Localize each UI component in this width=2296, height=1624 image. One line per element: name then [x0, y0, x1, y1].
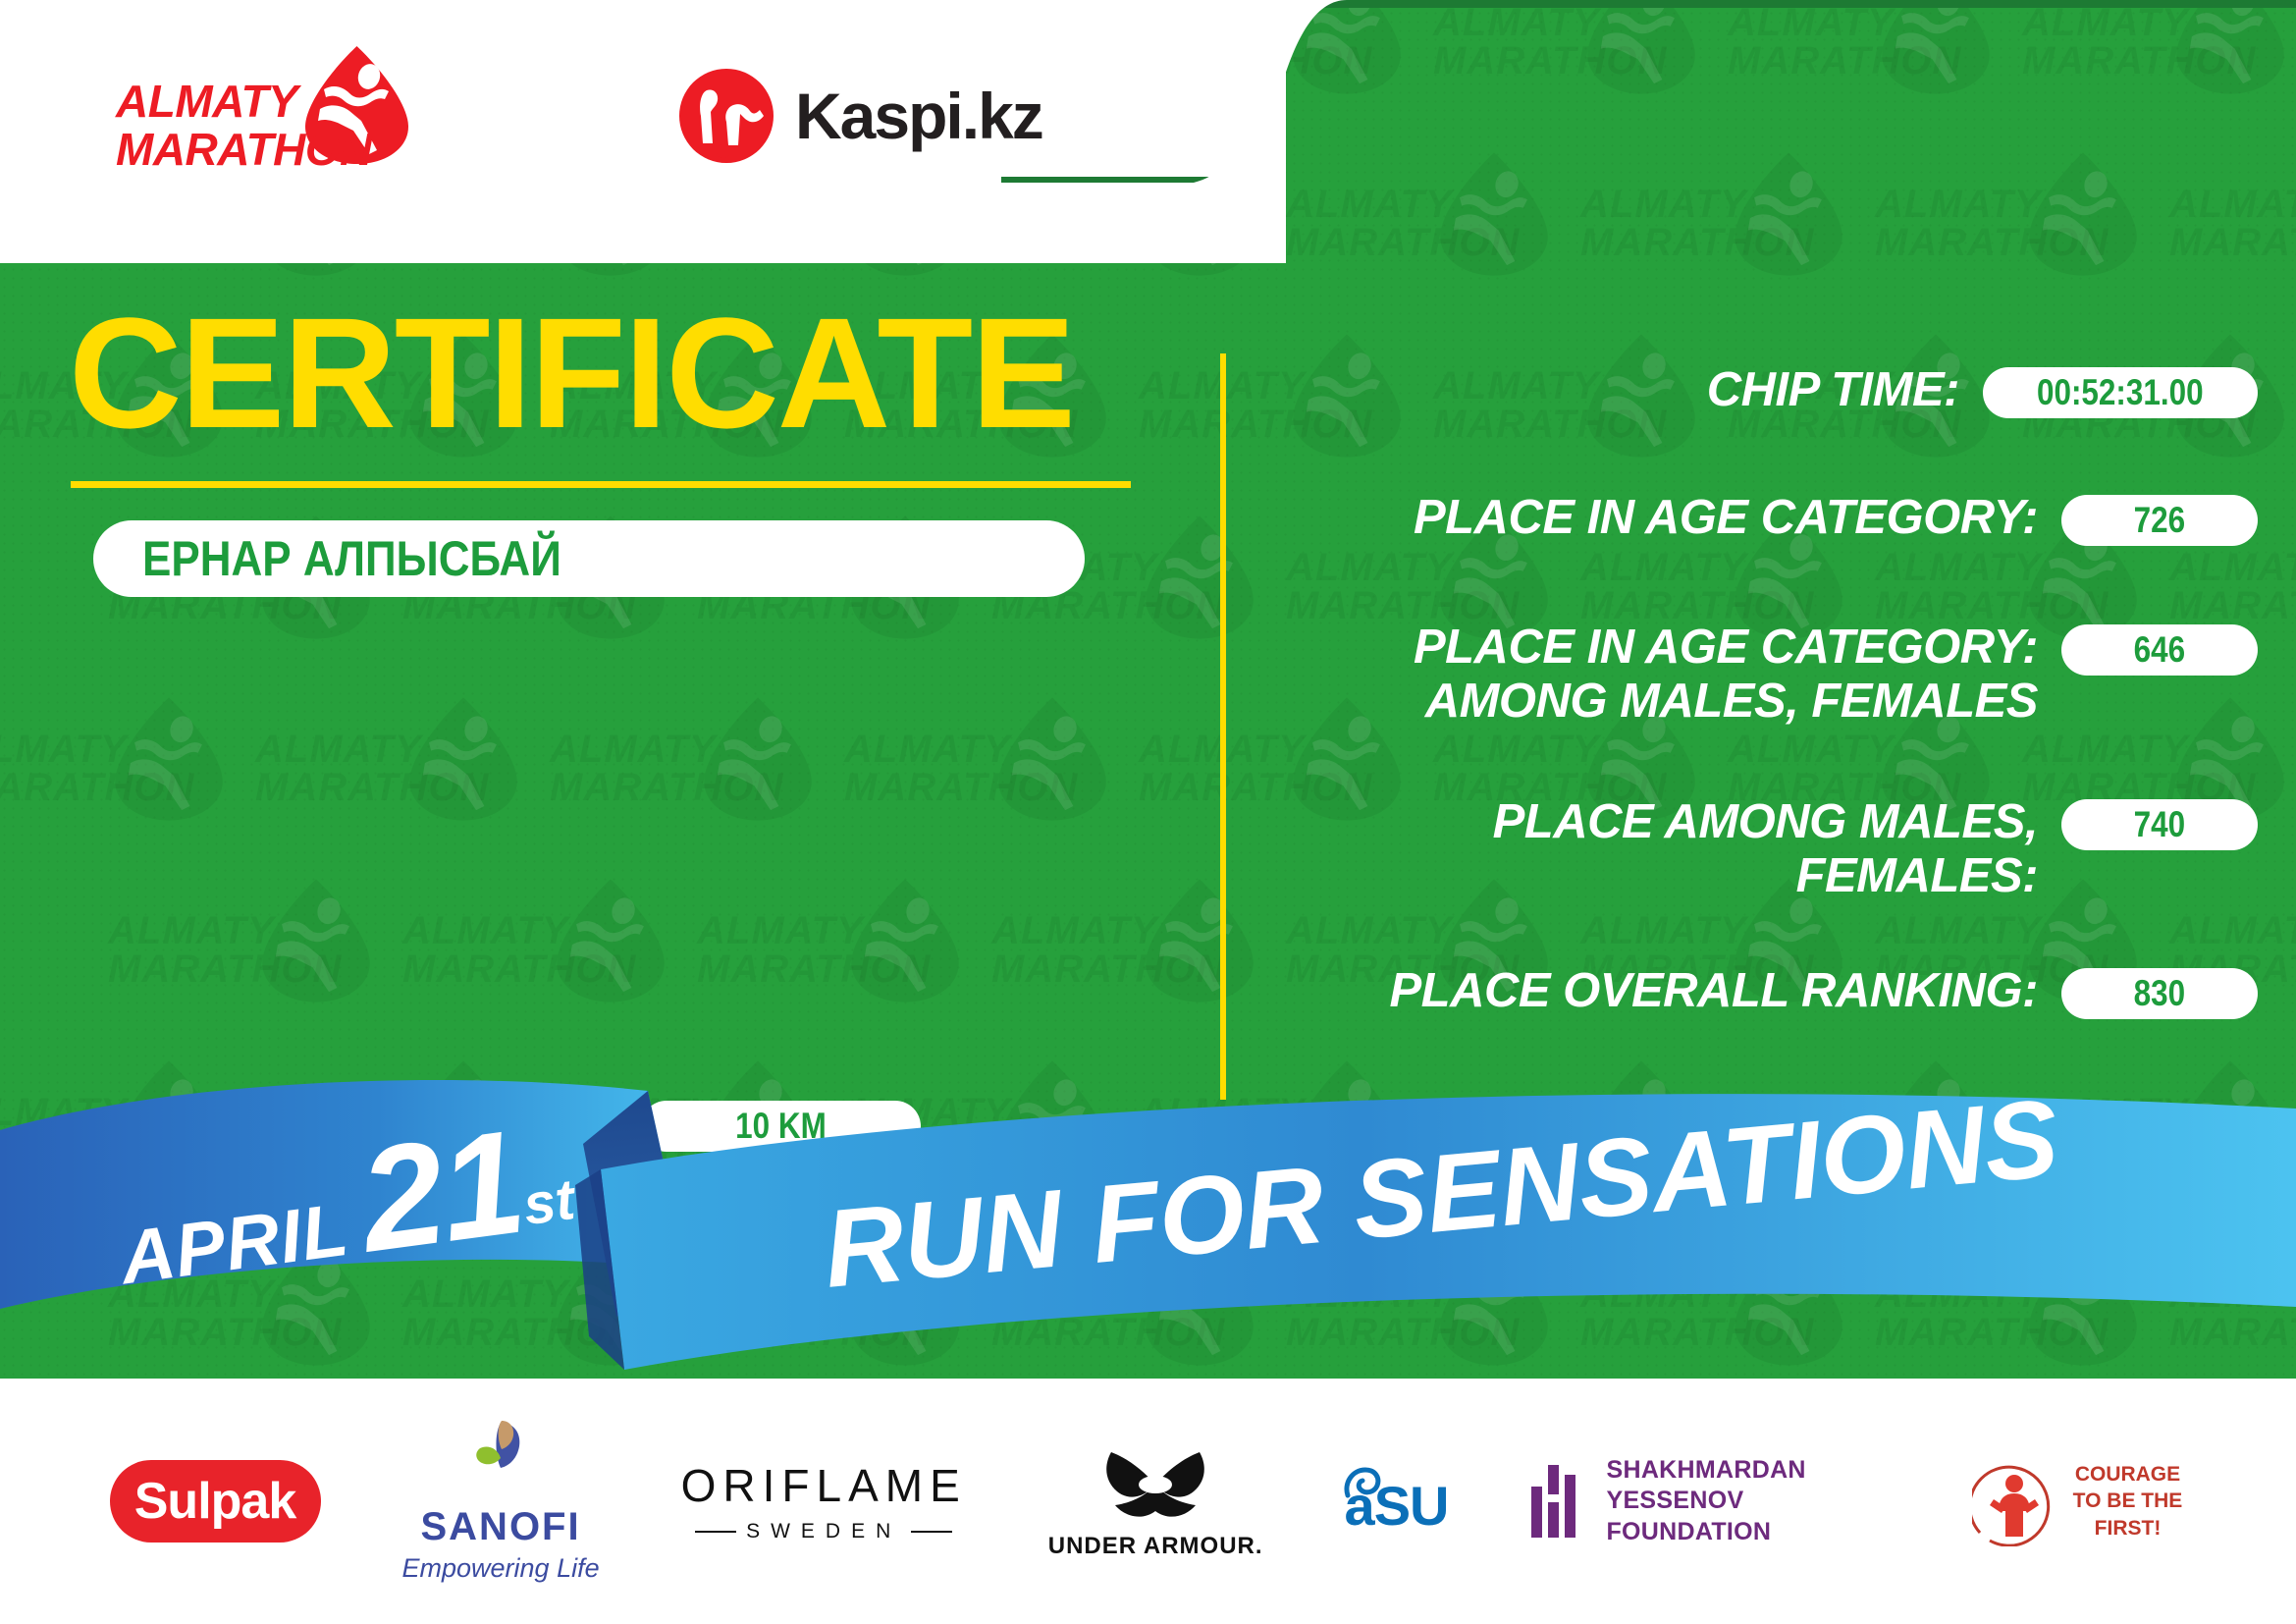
yessenov-foundation-logo: [1529, 1465, 1588, 1538]
watermark-tile: ALMATYMARATHON: [1433, 0, 1728, 142]
sanofi-logo: [456, 1419, 545, 1501]
sponsor-label: UNDER ARMOUR.: [1048, 1533, 1263, 1560]
watermark-drop-icon: [1435, 148, 1553, 281]
sponsor-label: SHAKHMARDAN YESSENOV FOUNDATION: [1606, 1455, 1891, 1547]
sponsor-oriflame: ORIFLAME SWEDEN: [681, 1459, 967, 1543]
sponsor-yessenov: SHAKHMARDAN YESSENOV FOUNDATION: [1529, 1455, 1891, 1547]
title-underline: [71, 481, 1131, 488]
sulpak-logo: Sulpak: [110, 1460, 321, 1543]
stat-value-pill: 00:52:31.00: [1983, 367, 2258, 418]
stat-value: 726: [2134, 500, 2185, 541]
watermark-tile: ALMATYMARATHON: [1728, 0, 2022, 142]
courage-fund-logo: [1972, 1456, 2056, 1546]
event-day-suffix: st: [519, 1167, 578, 1237]
kaspi-logo: Kaspi.kz: [677, 57, 1099, 175]
stat-row: CHIP TIME: 00:52:31.00: [1266, 363, 2258, 418]
stat-value-pill: 646: [2061, 624, 2258, 676]
sponsor-asu: aSU: [1345, 1466, 1449, 1538]
stat-value: 830: [2134, 973, 2185, 1014]
stat-row: PLACE IN AGE CATEGORY: 726: [1266, 491, 2258, 546]
sponsor-under-armour: UNDER ARMOUR.: [1048, 1442, 1263, 1560]
sponsor-courage-fund: COURAGE TO BE THE FIRST!: [1972, 1456, 2186, 1546]
event-day: 21: [351, 1099, 531, 1283]
watermark-text: ALMATYMARATHON: [1580, 186, 1814, 262]
sponsor-sublabel: Empowering Life: [402, 1553, 600, 1584]
watermark-text: ALMATYMARATHON: [1580, 549, 1814, 625]
stat-value-pill: 830: [2061, 968, 2258, 1019]
logo-line-1: ALMATY: [116, 78, 372, 126]
stat-row: PLACE AMONG MALES, FEMALES: 740: [1266, 795, 2258, 903]
page-title: CERTIFICATE: [69, 295, 1074, 452]
sponsor-sanofi: SANOFI Empowering Life: [402, 1419, 600, 1584]
courage-text-block: COURAGE TO BE THE FIRST!: [2068, 1461, 2186, 1542]
sponsor-label: COURAGE TO BE THE FIRST!: [2068, 1461, 2186, 1542]
watermark-text: ALMATYMARATHON: [2169, 186, 2296, 262]
watermark-tile: ALMATYMARATHON: [1580, 142, 1875, 324]
sponsor-sulpak: Sulpak: [110, 1460, 321, 1543]
event-month: APRIL: [116, 1188, 353, 1301]
sponsor-label: SANOFI: [420, 1505, 580, 1549]
rule-left-icon: [695, 1531, 736, 1533]
watermark-drop-icon: [1582, 0, 1700, 99]
kaspi-people-circle-icon: [677, 67, 775, 165]
oriflame-sweden-line: SWEDEN: [695, 1520, 952, 1543]
stat-label: PLACE OVERALL RANKING:: [1266, 964, 2061, 1018]
under-armour-logo: [1082, 1442, 1229, 1527]
watermark-tile: ALMATYMARATHON: [2169, 142, 2296, 324]
watermark-drop-icon: [2024, 148, 2142, 281]
watermark-text: ALMATYMARATHON: [1286, 549, 1520, 625]
sponsor-label: ORIFLAME: [681, 1459, 967, 1512]
sponsor-label: aSU: [1345, 1474, 1449, 1538]
stat-label: PLACE IN AGE CATEGORY: AMONG MALES, FEMA…: [1266, 621, 2061, 729]
watermark-tile: ALMATYMARATHON: [1875, 142, 2169, 324]
stat-value: 646: [2134, 629, 2185, 671]
stat-value-pill: 726: [2061, 495, 2258, 546]
column-divider: [1220, 353, 1226, 1100]
stat-value: 00:52:31.00: [2037, 372, 2204, 413]
watermark-text: ALMATYMARATHON: [1875, 549, 2109, 625]
certificate-page: ALMATYMARATHONALMATYMARATHONALMATYMARATH…: [0, 0, 2296, 1624]
participant-name: ЕРНАР АЛПЫСБАЙ: [142, 530, 561, 587]
stat-label: PLACE IN AGE CATEGORY:: [1266, 491, 2061, 545]
watermark-text: ALMATYMARATHON: [2169, 549, 2296, 625]
left-column: CERTIFICATE ЕРНАР АЛПЫСБАЙ DISTANCE: 10 …: [0, 295, 1207, 1178]
watermark-drop-icon: [2171, 0, 2289, 99]
almaty-marathon-logo: ALMATY MARATHON: [116, 54, 440, 187]
watermark-tile: ALMATYMARATHON: [2022, 0, 2296, 142]
watermark-text: ALMATYMARATHON: [1728, 4, 1961, 81]
stat-label: PLACE AMONG MALES, FEMALES:: [1266, 795, 2061, 903]
watermark-drop-icon: [1877, 0, 1995, 99]
stat-row: PLACE IN AGE CATEGORY: AMONG MALES, FEMA…: [1266, 621, 2258, 729]
logo-line-2: MARATHON: [116, 126, 372, 174]
watermark-text: ALMATYMARATHON: [1433, 4, 1667, 81]
sponsor-label: Sulpak: [134, 1472, 296, 1531]
almaty-marathon-logo-text: ALMATY MARATHON: [116, 78, 372, 174]
stat-value-pill: 740: [2061, 799, 2258, 850]
participant-name-field: ЕРНАР АЛПЫСБАЙ: [93, 520, 1085, 597]
watermark-text: ALMATYMARATHON: [1875, 186, 2109, 262]
watermark-drop-icon: [1730, 148, 1847, 281]
sponsor-sublabel: SWEDEN: [746, 1520, 901, 1543]
stat-value: 740: [2134, 804, 2185, 845]
rule-right-icon: [911, 1531, 952, 1533]
stat-label: CHIP TIME:: [1266, 363, 1983, 417]
kaspi-logo-text: Kaspi.kz: [795, 79, 1042, 153]
sponsors-bar: Sulpak SANOFI Empowering Life ORIFLAME S…: [0, 1379, 2296, 1624]
watermark-text: ALMATYMARATHON: [2022, 4, 2256, 81]
stat-row: PLACE OVERALL RANKING: 830: [1266, 964, 2258, 1019]
